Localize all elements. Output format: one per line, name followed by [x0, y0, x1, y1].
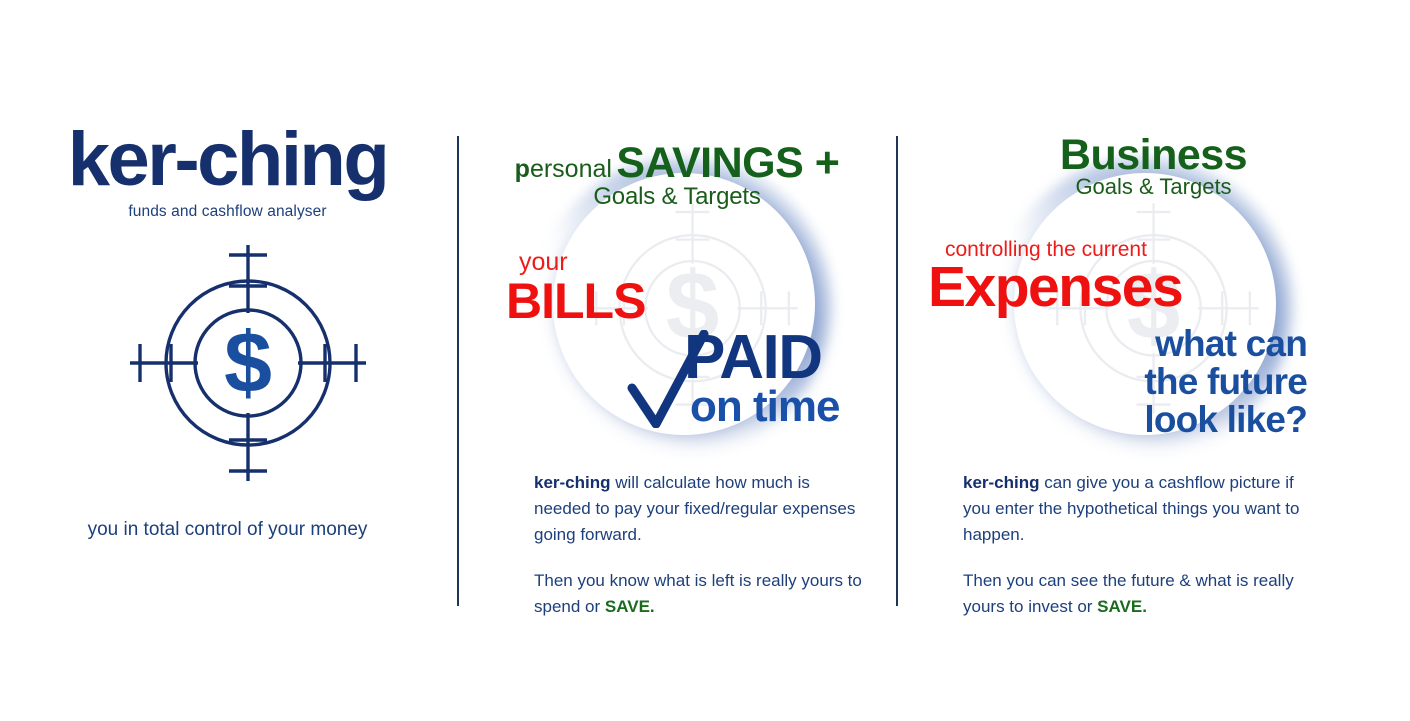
paid-subheadline: on time [690, 385, 839, 429]
brand-wordmark: ker-ching [0, 122, 455, 198]
poster-canvas: ker-ching funds and cashflow analyser [0, 0, 1410, 721]
panel-personal: $ personal SAVINGS + Goals & Targets you… [458, 0, 896, 721]
panel-brand: ker-ching funds and cashflow analyser [0, 0, 455, 721]
heading-prefix-bold: p [515, 155, 530, 183]
personal-goals-subheading: Goals & Targets [458, 183, 896, 211]
expenses-headline: Expenses [928, 258, 1182, 318]
heading-savings: SAVINGS + [616, 139, 839, 187]
business-heading: Business [897, 131, 1410, 180]
future-line: the future [1025, 363, 1307, 401]
brand-caption: you in total control of your money [0, 519, 455, 541]
save-emphasis: SAVE. [1097, 597, 1147, 616]
paragraph-text: Then you know what is left is really you… [534, 571, 862, 616]
future-line: what can [1025, 325, 1307, 363]
bills-headline: BILLS [506, 272, 645, 330]
paragraph: Then you know what is left is really you… [534, 568, 864, 620]
save-emphasis: SAVE. [605, 597, 655, 616]
personal-savings-heading: personal SAVINGS + [458, 139, 896, 188]
paragraph: ker-ching can give you a cashflow pictur… [963, 470, 1318, 548]
brand-tagline: funds and cashflow analyser [0, 203, 455, 221]
target-dollar-icon: $ [128, 243, 368, 483]
brand-inline: ker-ching [534, 473, 611, 492]
heading-prefix-rest: ersonal [530, 155, 612, 183]
brand-inline: ker-ching [963, 473, 1040, 492]
heading-prefix: personal [515, 155, 612, 183]
personal-body-copy: ker-ching will calculate how much is nee… [534, 470, 864, 620]
future-question: what can the future look like? [1025, 325, 1410, 439]
panel-business: $ Business Goals & Targets controlling t… [897, 0, 1410, 721]
paid-headline: PAID [684, 327, 822, 389]
future-line: look like? [1025, 401, 1307, 439]
paragraph: Then you can see the future & what is re… [963, 568, 1318, 620]
svg-text:$: $ [224, 315, 272, 411]
business-body-copy: ker-ching can give you a cashflow pictur… [963, 470, 1318, 620]
business-goals-subheading: Goals & Targets [897, 174, 1410, 200]
paragraph: ker-ching will calculate how much is nee… [534, 470, 864, 548]
